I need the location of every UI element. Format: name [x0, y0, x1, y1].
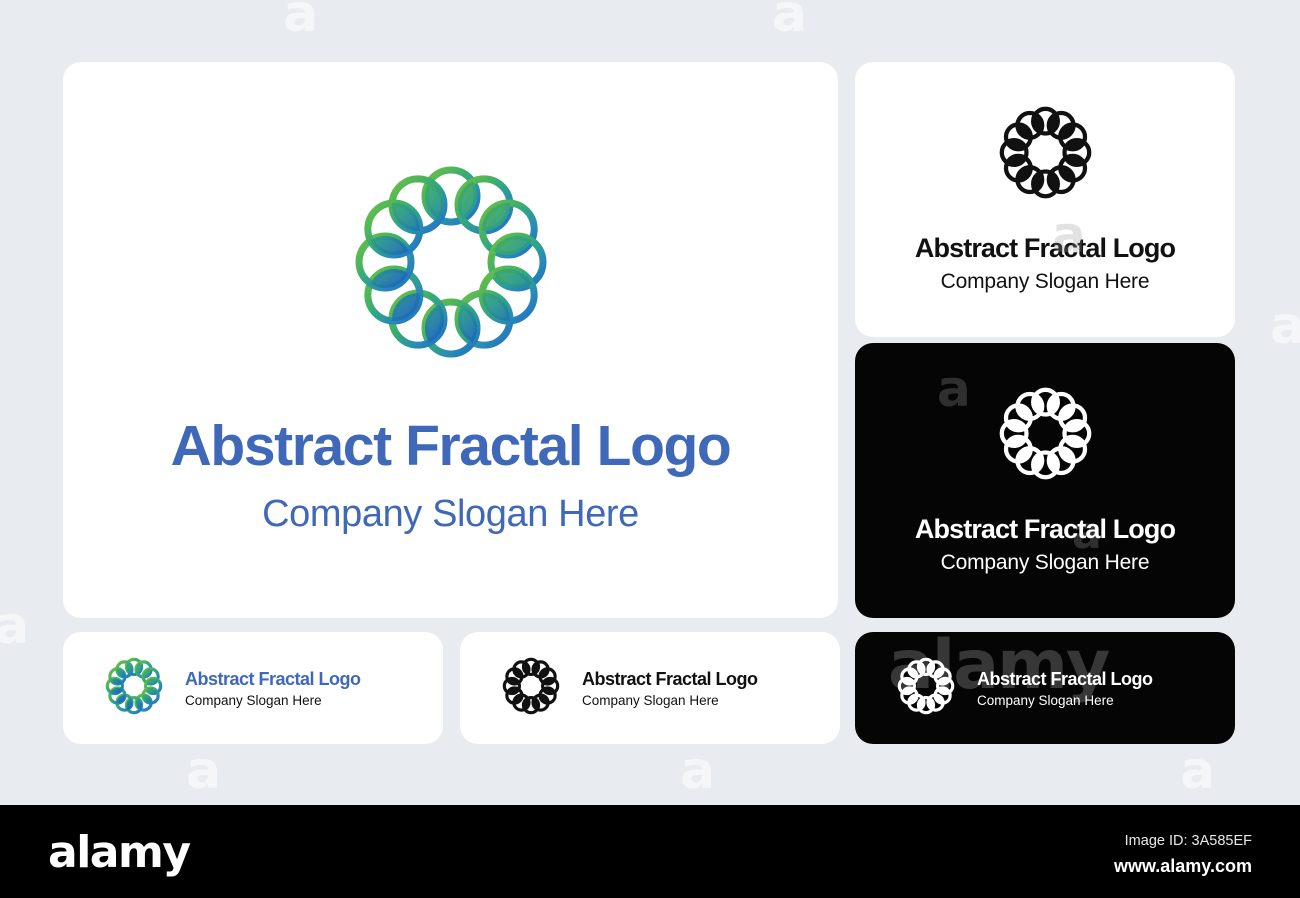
watermark-letter: a [680, 745, 715, 797]
light-card-brand-title: Abstract Fractal Logo [915, 233, 1175, 264]
logo-card-horizontal-color[interactable]: Abstract Fractal Logo Company Slogan Her… [63, 632, 443, 744]
artboard: a a a a a a a [0, 0, 1300, 805]
fractal-ring-icon [998, 386, 1093, 486]
horizontal-color-brand-title: Abstract Fractal Logo [185, 669, 361, 690]
logo-card-hero-primary[interactable]: Abstract Fractal Logo Company Slogan Her… [63, 62, 838, 618]
hero-brand-slogan: Company Slogan Here [262, 493, 639, 536]
watermark-letter: a [283, 0, 318, 40]
horizontal-dark-brand-slogan: Company Slogan Here [977, 693, 1114, 708]
fractal-ring-icon [502, 657, 560, 720]
alamy-logo[interactable]: alamy [48, 831, 190, 875]
logo-card-light-mono[interactable]: Abstract Fractal Logo Company Slogan Her… [855, 62, 1235, 337]
fractal-ring-icon [105, 657, 163, 720]
watermark-letter: a [0, 600, 29, 652]
watermark-letter: a [1270, 300, 1300, 352]
fractal-ring-icon [897, 657, 955, 720]
logo-presentation-canvas: a a a a a a a [0, 0, 1300, 898]
logo-card-horizontal-dark[interactable]: Abstract Fractal Logo Company Slogan Her… [855, 632, 1235, 744]
logo-card-horizontal-mono[interactable]: Abstract Fractal Logo Company Slogan Her… [460, 632, 840, 744]
fractal-ring-icon [351, 162, 551, 367]
fractal-ring-icon [998, 105, 1093, 205]
light-card-brand-slogan: Company Slogan Here [941, 270, 1150, 294]
dark-card-brand-slogan: Company Slogan Here [941, 551, 1150, 575]
dark-card-brand-title: Abstract Fractal Logo [915, 514, 1175, 545]
horizontal-color-brand-slogan: Company Slogan Here [185, 693, 322, 708]
image-id-label: Image ID: 3A585EF [1114, 831, 1252, 853]
alamy-footer-bar: alamy Image ID: 3A585EF www.alamy.com [0, 805, 1300, 898]
watermark-letter: a [772, 0, 807, 40]
horizontal-dark-brand-title: Abstract Fractal Logo [977, 669, 1153, 690]
watermark-letter: a [186, 745, 221, 797]
logo-card-dark-mono[interactable]: Abstract Fractal Logo Company Slogan Her… [855, 343, 1235, 618]
horizontal-mono-brand-slogan: Company Slogan Here [582, 693, 719, 708]
alamy-url[interactable]: www.alamy.com [1114, 853, 1252, 879]
watermark-letter: a [1180, 745, 1215, 797]
horizontal-mono-brand-title: Abstract Fractal Logo [582, 669, 758, 690]
hero-brand-title: Abstract Fractal Logo [171, 413, 731, 479]
footer-meta: Image ID: 3A585EF www.alamy.com [1114, 831, 1252, 879]
